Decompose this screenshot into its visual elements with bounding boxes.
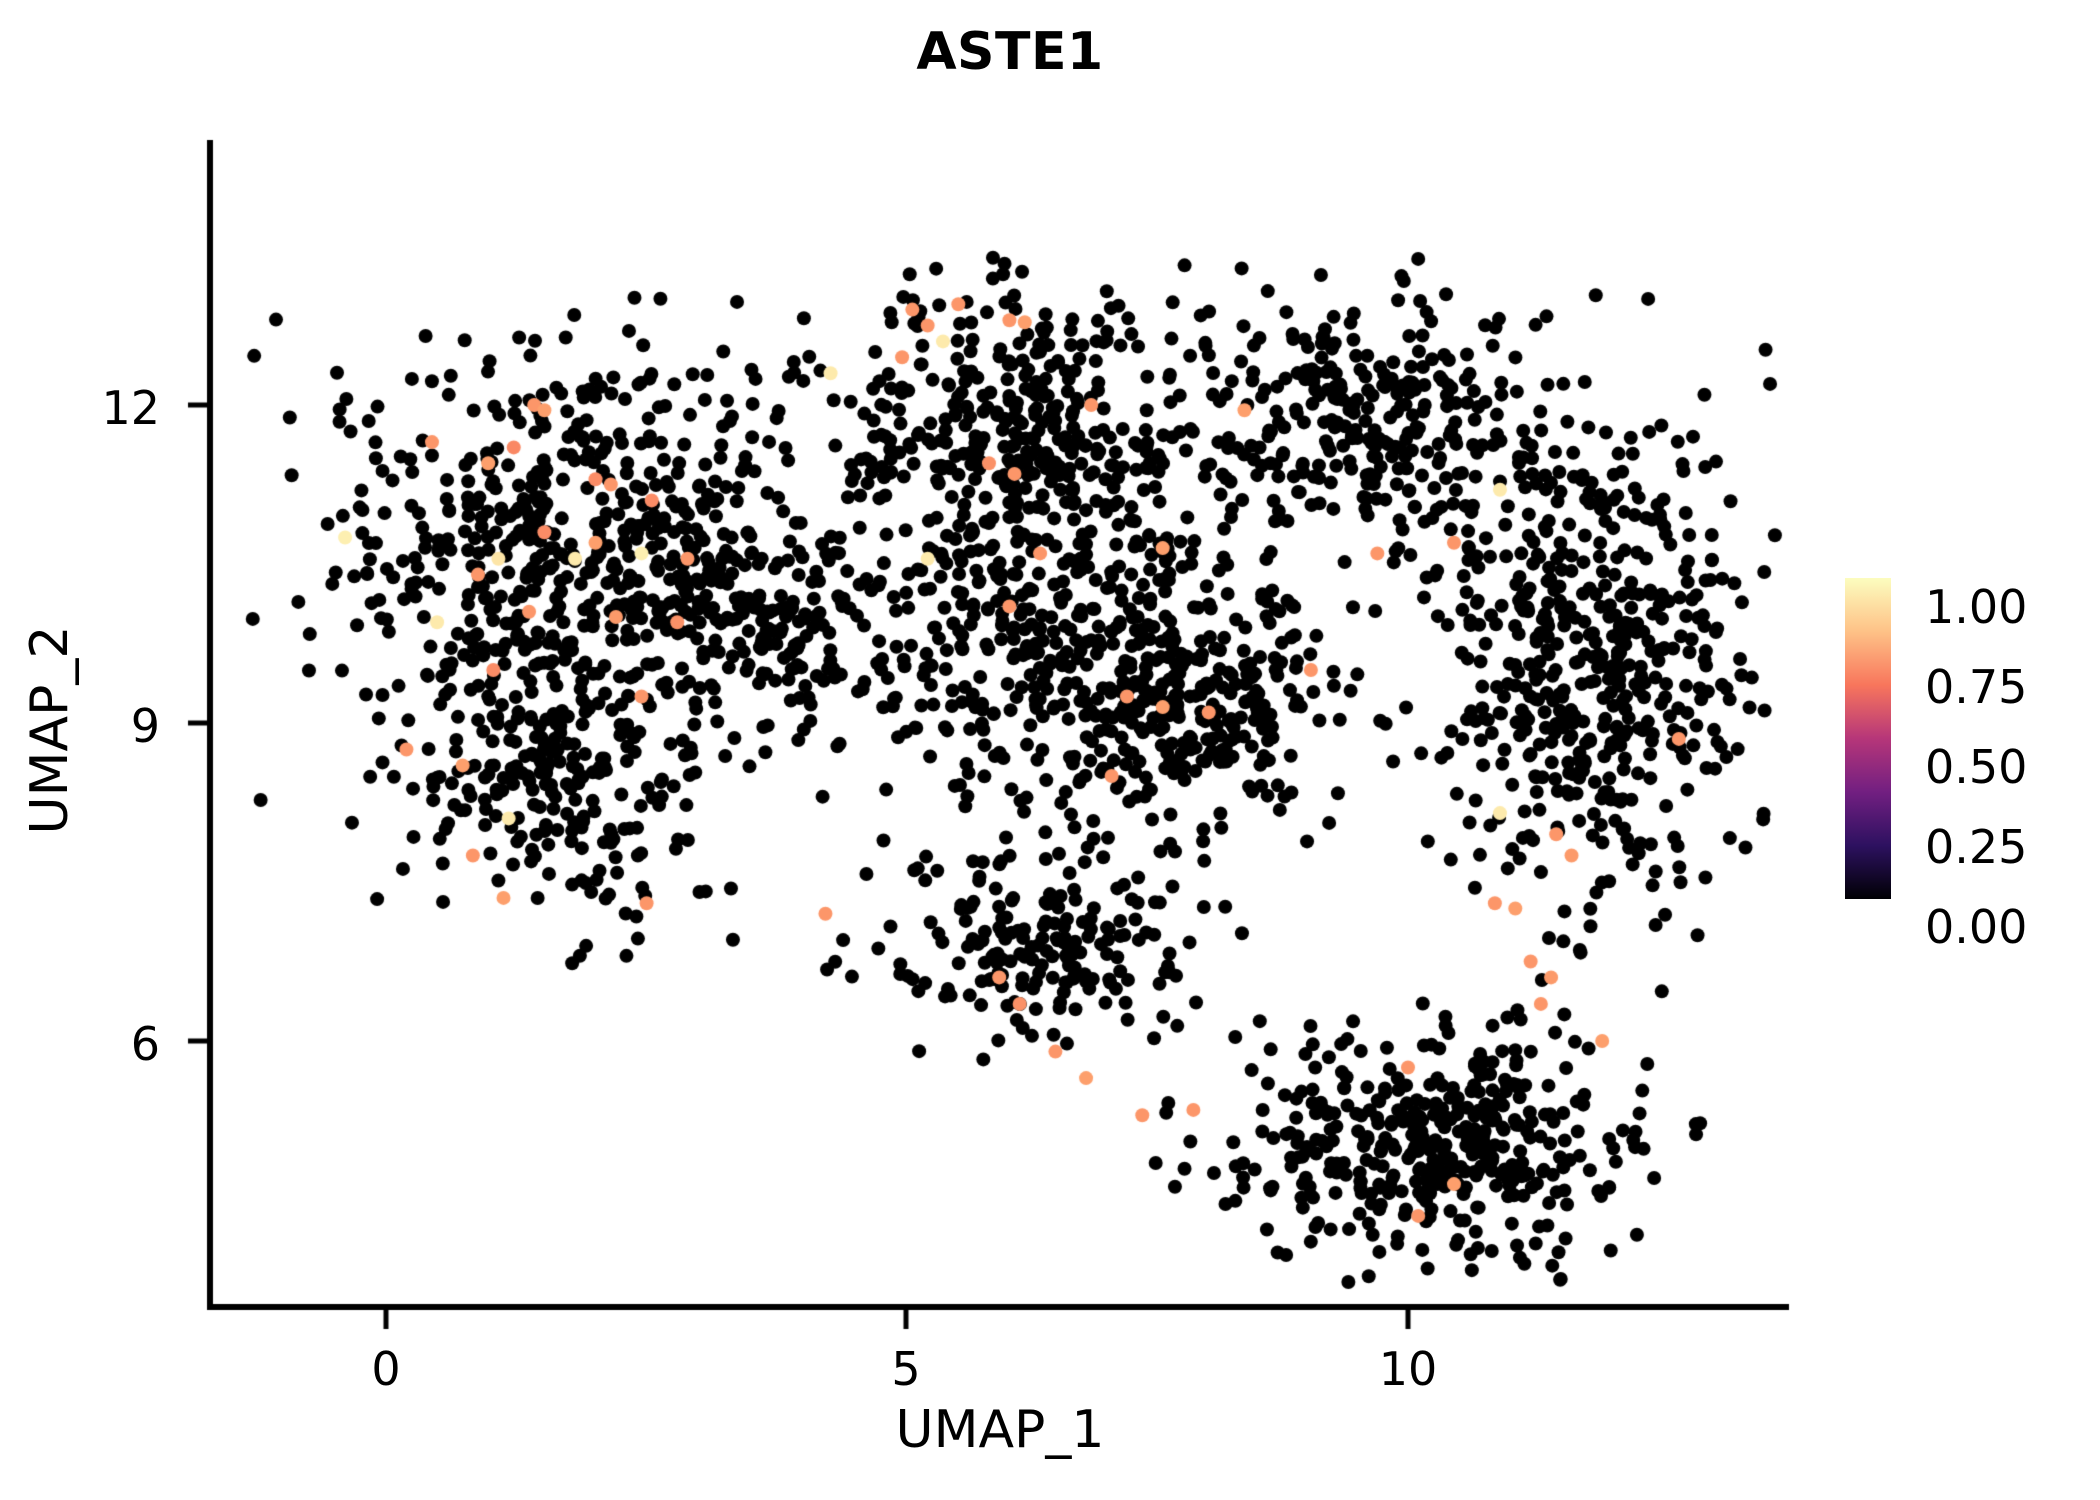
colorbar-tick-075: 0.75 bbox=[1925, 660, 2027, 714]
colorbar-tick-000: 0.00 bbox=[1925, 900, 2027, 954]
ytick-label-6: 6 bbox=[20, 1017, 160, 1071]
colorbar-tick-025: 0.25 bbox=[1925, 820, 2027, 874]
scatter-plot-canvas bbox=[0, 0, 2100, 1500]
ytick-label-12: 12 bbox=[20, 381, 160, 435]
colorbar-tick-1: 1.00 bbox=[1925, 580, 2027, 634]
umap-feature-plot: ASTE1 12 9 6 0 5 10 UMAP_1 UMAP_2 1.00 0… bbox=[0, 0, 2100, 1500]
colorbar-tick-050: 0.50 bbox=[1925, 740, 2027, 794]
colorbar-gradient bbox=[1845, 578, 1891, 899]
xtick-label-10: 10 bbox=[1348, 1342, 1468, 1396]
y-axis-label: UMAP_2 bbox=[20, 580, 80, 880]
xtick-label-0: 0 bbox=[326, 1342, 446, 1396]
xtick-label-5: 5 bbox=[846, 1342, 966, 1396]
x-axis-label: UMAP_1 bbox=[0, 1400, 2000, 1460]
